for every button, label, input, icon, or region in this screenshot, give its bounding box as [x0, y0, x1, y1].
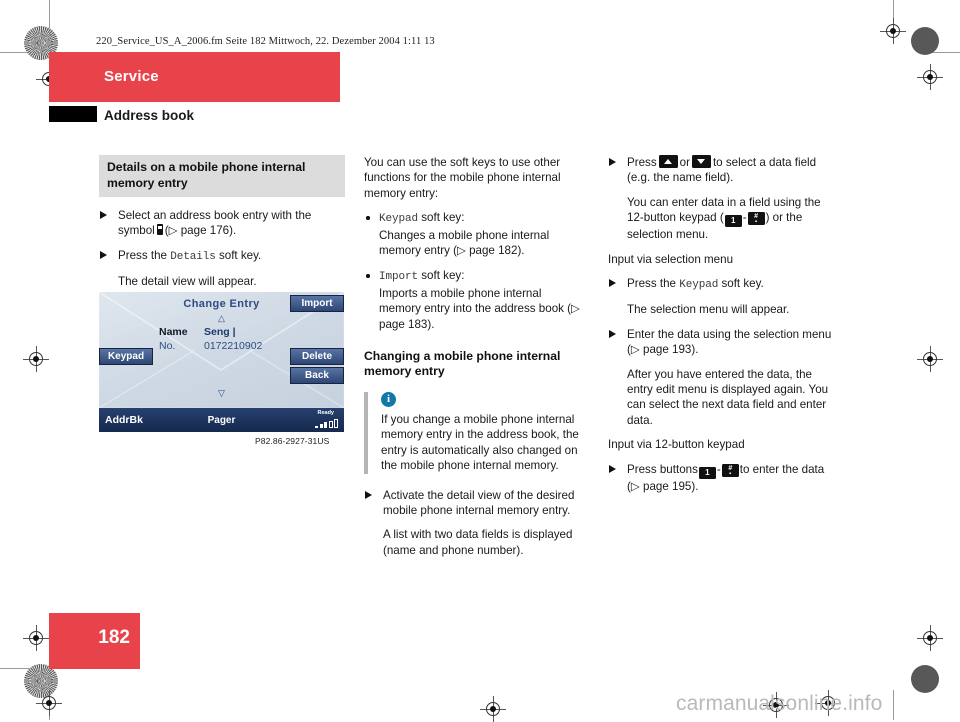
- column-two: You can use the soft keys to use other f…: [364, 155, 586, 567]
- softkey-name-keypad: Keypad: [679, 279, 718, 291]
- step-result-detail-view: The detail view will appear.: [99, 274, 345, 289]
- step-triangle-icon: [609, 279, 616, 287]
- bullet-suffix: soft key:: [421, 269, 464, 282]
- status-pager: Pager: [99, 415, 344, 426]
- scroll-up-icon[interactable]: △: [99, 313, 344, 324]
- registration-blob-bottom-right: [911, 665, 939, 693]
- mobile-phone-icon: [157, 224, 163, 235]
- arrow-down-button-icon: [692, 155, 711, 168]
- bullet-dot-icon: [366, 216, 370, 220]
- intro-paragraph: You can use the soft keys to use other f…: [364, 155, 586, 201]
- manual-page: 220_Service_US_A_2006.fm Seite 182 Mittw…: [0, 0, 960, 720]
- print-header-line: 220_Service_US_A_2006.fm Seite 182 Mittw…: [96, 36, 435, 47]
- step-text: Activate the detail view of the desired …: [383, 489, 574, 517]
- column-three: Pressorto select a data field (e.g. the …: [608, 155, 840, 503]
- softkey-name-details: Details: [170, 251, 216, 263]
- key-one-icon: 1: [699, 467, 716, 479]
- scroll-down-icon[interactable]: ▽: [99, 388, 344, 399]
- softkey-name-import: Import: [379, 271, 418, 283]
- note-body: If you change a mobile phone internal me…: [381, 412, 586, 474]
- bullet-suffix: soft key:: [421, 211, 464, 224]
- registration-blob-top-right: [911, 27, 939, 55]
- registration-target-left-lower: [23, 625, 49, 651]
- softkey-import[interactable]: Import: [290, 295, 344, 312]
- range-dash: -: [717, 463, 721, 476]
- column-one: Details on a mobile phone internal memor…: [99, 155, 345, 299]
- step-triangle-icon: [100, 251, 107, 259]
- step-text-pre: Press the: [118, 249, 167, 262]
- step-result-enter-data: You can enter data in a field using the …: [608, 195, 840, 243]
- figure-caption: P82.86-2927-31US: [255, 436, 329, 446]
- softkey-name-keypad: Keypad: [379, 213, 418, 225]
- field-value-number[interactable]: 0172210902: [204, 340, 262, 352]
- status-ready-label: Ready: [317, 410, 334, 416]
- bullet-body: Changes a mobile phone internal memory e…: [379, 229, 549, 257]
- bullet-import-softkey: Import soft key: Imports a mobile phone …: [364, 268, 586, 332]
- bullet-keypad-softkey: Keypad soft key: Changes a mobile phone …: [364, 210, 586, 258]
- softkey-delete[interactable]: Delete: [290, 348, 344, 365]
- section-title-rule: [49, 106, 97, 122]
- step-press-keypad-softkey: Press the Keypad soft key.: [608, 276, 840, 293]
- step-press-details: Press the Details soft key.: [99, 248, 345, 265]
- step-triangle-icon: [609, 330, 616, 338]
- trim-line-top: [49, 0, 50, 30]
- trim-line-bottom-left: [0, 668, 30, 669]
- info-icon: i: [381, 392, 396, 407]
- page-number-box: 182: [49, 613, 140, 669]
- subheading-selection-menu: Input via selection menu: [608, 252, 840, 267]
- field-value-name[interactable]: Seng |: [204, 326, 236, 338]
- key-hash-bottom: ∘: [748, 220, 765, 225]
- softkey-back[interactable]: Back: [290, 367, 344, 384]
- subheading-12-button-keypad: Input via 12-button keypad: [608, 437, 840, 452]
- step-text-post: soft key.: [219, 249, 261, 262]
- registration-target-top-center: [880, 18, 906, 44]
- registration-target-bottom-left: [36, 690, 62, 716]
- step-triangle-icon: [609, 465, 616, 473]
- registration-target-left-middle: [23, 346, 49, 372]
- registration-target-bottom-center: [480, 696, 506, 722]
- grey-heading: Details on a mobile phone internal memor…: [99, 155, 345, 197]
- step-result-selection-menu: The selection menu will appear.: [608, 302, 840, 317]
- device-screen-illustration: Change Entry △ ▽ Name Seng | No. 0172210…: [99, 292, 344, 432]
- step-select-entry: Select an address book entry with the sy…: [99, 208, 345, 239]
- subsection-heading: Changing a mobile phone internal memory …: [364, 349, 586, 380]
- step-text-post: soft key.: [721, 277, 763, 290]
- registration-target-right-lower: [917, 625, 943, 651]
- step-result-entry-edit-menu: After you have entered the data, the ent…: [608, 367, 840, 429]
- bullet-body: Imports a mobile phone internal memory e…: [379, 287, 580, 331]
- page-reference: (▷ page 176).: [165, 224, 236, 237]
- step-text: Enter the data using the selection menu …: [627, 328, 831, 356]
- step-result-two-fields: A list with two data fields is displayed…: [364, 527, 586, 558]
- registration-target-right-upper: [917, 64, 943, 90]
- step-text-pre: Press the: [627, 277, 676, 290]
- trim-line-bottom-right: [893, 690, 894, 720]
- step-select-data-field: Pressorto select a data field (e.g. the …: [608, 155, 840, 186]
- trim-line-left: [0, 52, 30, 53]
- step-text-pre: Press: [627, 156, 657, 169]
- step-text-pre: Press buttons: [627, 463, 698, 476]
- arrow-up-button-icon: [659, 155, 678, 168]
- chapter-title: Service: [104, 68, 159, 85]
- page-number: 182: [98, 627, 130, 649]
- field-label-name: Name: [159, 326, 188, 338]
- signal-strength-icon: [315, 419, 338, 428]
- step-press-buttons: Press buttons1- # ∘ to enter the data (▷…: [608, 462, 840, 494]
- key-hash-bottom: ∘: [722, 472, 739, 477]
- note-side-rule: [364, 392, 368, 474]
- step-triangle-icon: [365, 491, 372, 499]
- key-hash-icon: # ∘: [748, 212, 765, 225]
- chapter-header-band: Service: [49, 52, 340, 102]
- step-triangle-icon: [609, 158, 616, 166]
- range-dash: -: [743, 211, 747, 224]
- bullet-dot-icon: [366, 274, 370, 278]
- site-watermark: carmanualsonline.info: [676, 692, 882, 716]
- registration-target-right-middle: [917, 346, 943, 372]
- device-status-bar: AddrBk Pager Ready: [99, 408, 344, 432]
- field-label-number: No.: [159, 340, 175, 352]
- softkey-keypad[interactable]: Keypad: [99, 348, 153, 365]
- step-text-mid: or: [680, 156, 690, 169]
- key-one-icon: 1: [725, 215, 742, 227]
- step-enter-data-selection-menu: Enter the data using the selection menu …: [608, 327, 840, 358]
- section-title: Address book: [104, 108, 194, 123]
- step-activate-detail-view: Activate the detail view of the desired …: [364, 488, 586, 519]
- info-note: i If you change a mobile phone internal …: [364, 392, 586, 474]
- key-hash-icon: # ∘: [722, 464, 739, 477]
- trim-line-right: [930, 52, 960, 53]
- step-triangle-icon: [100, 211, 107, 219]
